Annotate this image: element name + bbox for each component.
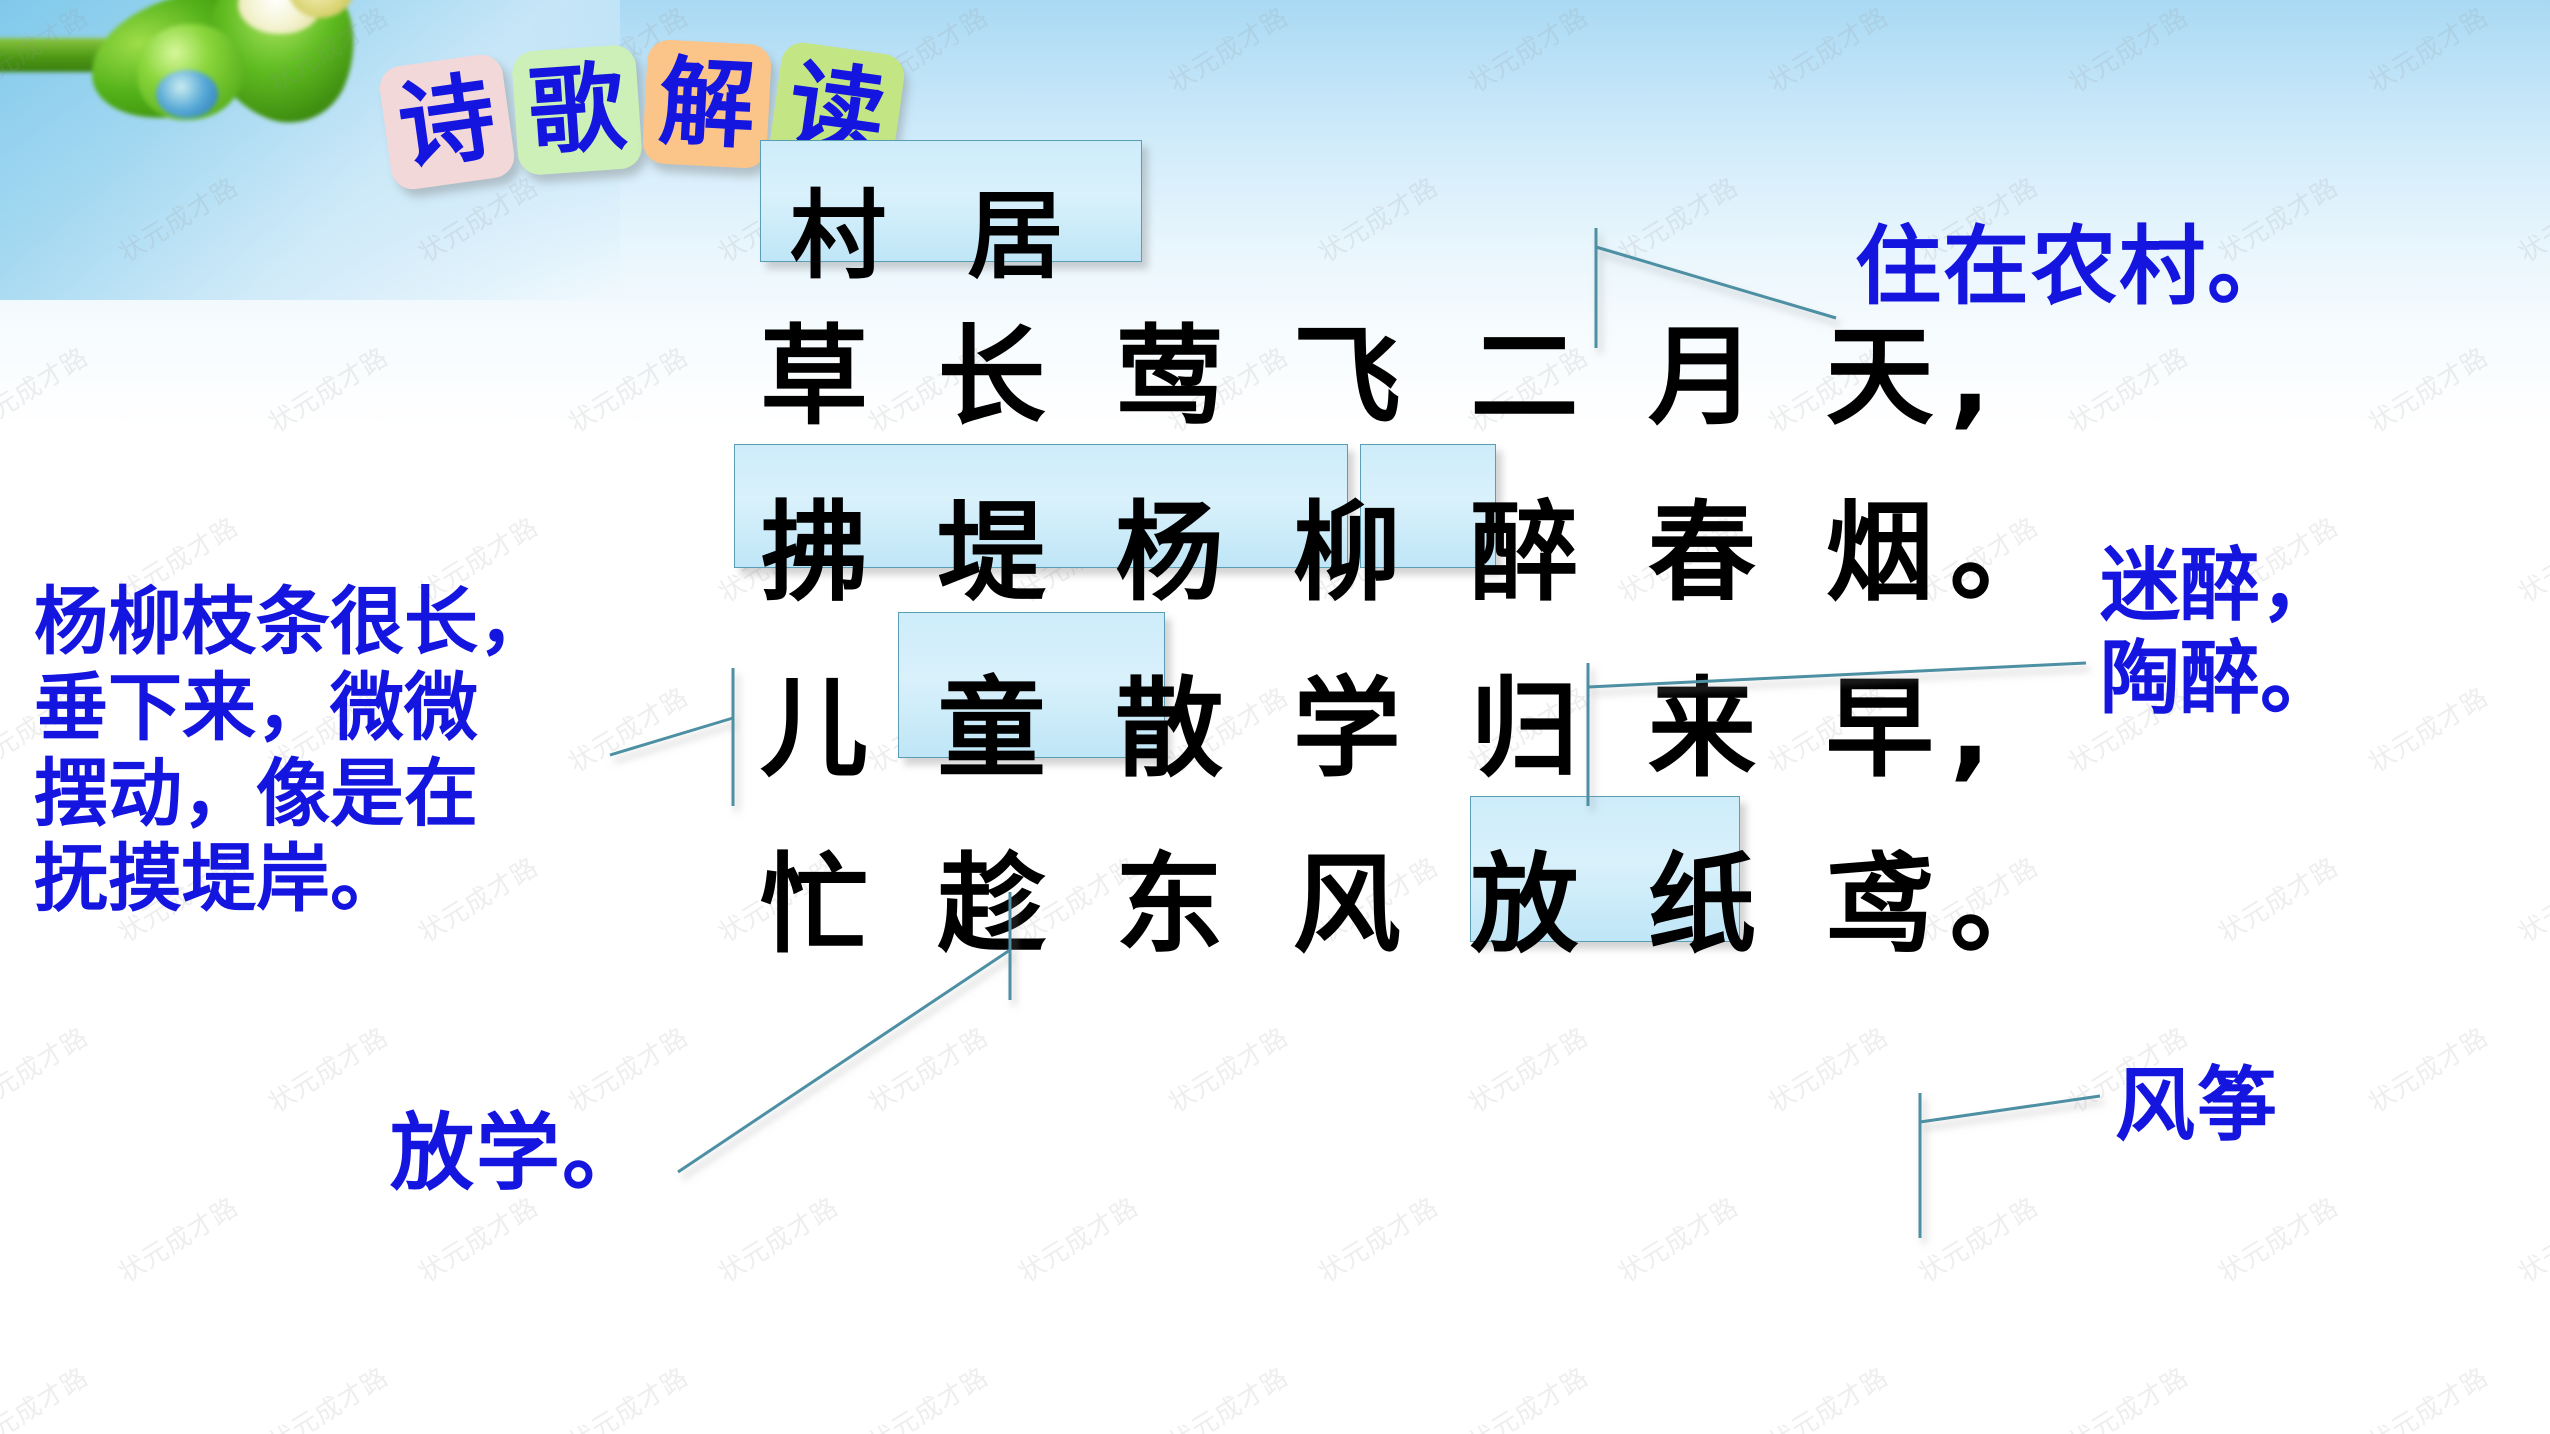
watermark-text: 状元成才路 xyxy=(1760,1017,1894,1120)
poem-line-1-text: 草 长 莺 飞 二 月 天, xyxy=(760,315,2007,440)
annotation-willow-branches: 杨柳枝条很长， 垂下来，微微 摆动，像是在 抚摸堤岸。 xyxy=(34,580,552,923)
heading-tile-ge-label: 歌 xyxy=(526,59,628,161)
poem-block: 村 居 草 长 莺 飞 二 月 天, 拂 堤 杨 柳 醉 春 烟。 儿 童 散 … xyxy=(760,140,2010,994)
heading-tile-shi: 诗 xyxy=(377,52,517,192)
watermark-text: 状元成才路 xyxy=(110,1187,244,1290)
watermark-text: 状元成才路 xyxy=(860,1357,994,1434)
watermark-text: 状元成才路 xyxy=(1310,1187,1444,1290)
poem-line-2-text: 拂 堤 杨 柳 醉 春 烟。 xyxy=(760,491,2074,616)
poem-line-3-text: 儿 童 散 学 归 来 早, xyxy=(760,667,2007,792)
annotation-school-dismissal: 放学。 xyxy=(390,1105,648,1202)
watermark-text: 状元成才路 xyxy=(560,677,694,780)
connector-paper-kite-to-note xyxy=(1920,1093,2100,1238)
poem-line-1: 草 长 莺 飞 二 月 天, xyxy=(760,290,2010,466)
annotation-intoxicated: 迷醉， 陶醉。 xyxy=(2100,540,2340,726)
watermark-text: 状元成才路 xyxy=(0,1357,95,1434)
watermark-text: 状元成才路 xyxy=(2360,1017,2494,1120)
leaf-bud-decoration-icon xyxy=(0,0,330,158)
watermark-text: 状元成才路 xyxy=(2210,1187,2344,1290)
watermark-text: 状元成才路 xyxy=(2360,677,2494,780)
heading-tile-ge: 歌 xyxy=(511,44,643,176)
watermark-text: 状元成才路 xyxy=(2360,1357,2494,1434)
watermark-text: 状元成才路 xyxy=(1460,1357,1594,1434)
poem-title: 村 居 xyxy=(790,158,2040,297)
watermark-text: 状元成才路 xyxy=(1160,1017,1294,1120)
watermark-text: 状元成才路 xyxy=(260,1357,394,1434)
heading-tile-jie-label: 解 xyxy=(657,54,758,155)
poem-line-4: 忙 趁 东 风 放 纸 鸢。 xyxy=(760,818,2010,994)
watermark-text: 状元成才路 xyxy=(2510,1187,2550,1290)
watermark-text: 状元成才路 xyxy=(1910,1187,2044,1290)
watermark-text: 状元成才路 xyxy=(2060,1357,2194,1434)
poem-line-2: 拂 堤 杨 柳 醉 春 烟。 xyxy=(760,466,2010,642)
heading-tile-shi-label: 诗 xyxy=(393,68,501,176)
annotation-kite: 风筝 xyxy=(2115,1060,2279,1153)
watermark-text: 状元成才路 xyxy=(710,1187,844,1290)
connector-willow-note-to-line2 xyxy=(610,668,733,806)
poem-line-4-text: 忙 趁 东 风 放 纸 鸢。 xyxy=(760,843,2074,968)
poem-line-3: 儿 童 散 学 归 来 早, xyxy=(760,642,2010,818)
poem-title-row: 村 居 xyxy=(760,140,2010,290)
watermark-text: 状元成才路 xyxy=(2510,507,2550,610)
watermark-text: 状元成才路 xyxy=(2510,847,2550,950)
slide-canvas: 状元成才路状元成才路状元成才路状元成才路状元成才路状元成才路状元成才路状元成才路… xyxy=(0,0,2550,1434)
watermark-text: 状元成才路 xyxy=(1010,1187,1144,1290)
heading-tile-jie: 解 xyxy=(642,39,772,169)
watermark-text: 状元成才路 xyxy=(1160,1357,1294,1434)
watermark-text: 状元成才路 xyxy=(560,1357,694,1434)
watermark-text: 状元成才路 xyxy=(410,1187,544,1290)
watermark-text: 状元成才路 xyxy=(1760,1357,1894,1434)
watermark-text: 状元成才路 xyxy=(860,1017,994,1120)
watermark-text: 状元成才路 xyxy=(2210,847,2344,950)
watermark-text: 状元成才路 xyxy=(0,1017,95,1120)
dewdrop-icon xyxy=(156,70,218,118)
watermark-text: 状元成才路 xyxy=(1610,1187,1744,1290)
watermark-text: 状元成才路 xyxy=(1460,1017,1594,1120)
watermark-text: 状元成才路 xyxy=(260,1017,394,1120)
